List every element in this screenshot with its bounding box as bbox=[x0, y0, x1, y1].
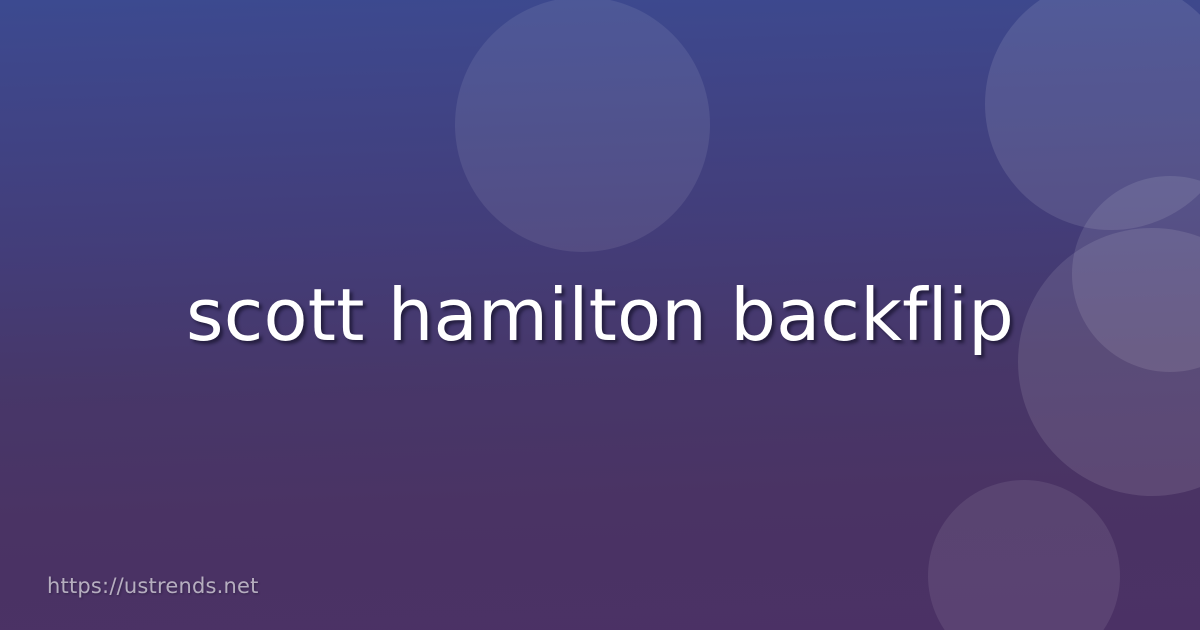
og-share-card: scott hamilton backflip https://ustrends… bbox=[0, 0, 1200, 630]
site-url-label: https://ustrends.net bbox=[47, 574, 259, 598]
page-title: scott hamilton backflip bbox=[186, 274, 1014, 357]
headline-container: scott hamilton backflip bbox=[0, 0, 1200, 630]
